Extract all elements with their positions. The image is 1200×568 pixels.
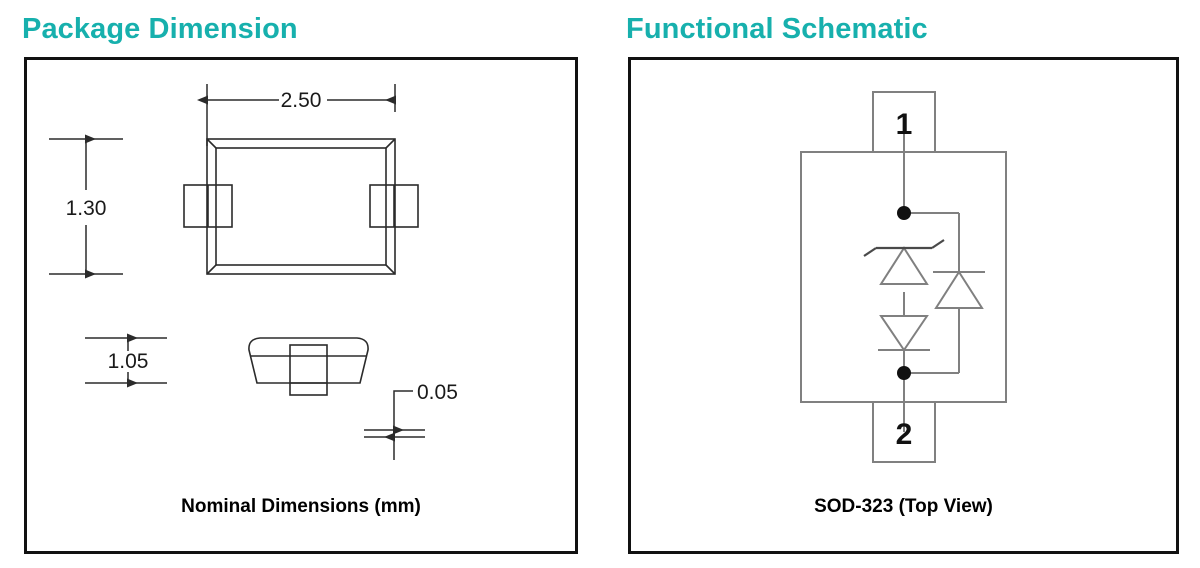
figure-page: Package Dimension Functional Schematic <box>0 0 1200 568</box>
height-dimension-label: 1.30 <box>66 197 107 220</box>
pin-1-label: 1 <box>896 108 913 141</box>
functional-schematic-panel: 1 2 SOD-323 (Top View) <box>628 57 1179 554</box>
width-dimension-label: 2.50 <box>281 89 322 112</box>
package-dimension-drawing: 2.50 1.30 <box>27 60 575 551</box>
side-height-dimension-label: 1.05 <box>108 350 149 373</box>
standoff-dimension-label: 0.05 <box>417 381 458 404</box>
standoff-dimension-0-05 <box>364 391 425 460</box>
junction-dot-bottom <box>897 366 911 380</box>
package-dimension-panel: 2.50 1.30 <box>24 57 578 554</box>
side-view-group <box>249 338 368 395</box>
junction-dot-top <box>897 206 911 220</box>
package-dimension-caption: Nominal Dimensions (mm) <box>27 496 575 518</box>
functional-schematic-heading: Functional Schematic <box>626 15 928 44</box>
functional-schematic-caption: SOD-323 (Top View) <box>631 496 1176 518</box>
right-lead <box>370 185 418 227</box>
functional-schematic-drawing: 1 2 <box>631 60 1176 551</box>
side-lead-tab <box>290 345 327 395</box>
package-body-outline <box>207 139 395 274</box>
left-lead <box>184 185 232 227</box>
parallel-diode-symbol <box>933 272 985 308</box>
top-view-group <box>184 139 418 274</box>
package-dimension-heading: Package Dimension <box>22 15 298 44</box>
pin-2-label: 2 <box>896 418 913 451</box>
series-diode-symbol <box>878 316 930 350</box>
zener-diode-symbol <box>881 248 927 284</box>
